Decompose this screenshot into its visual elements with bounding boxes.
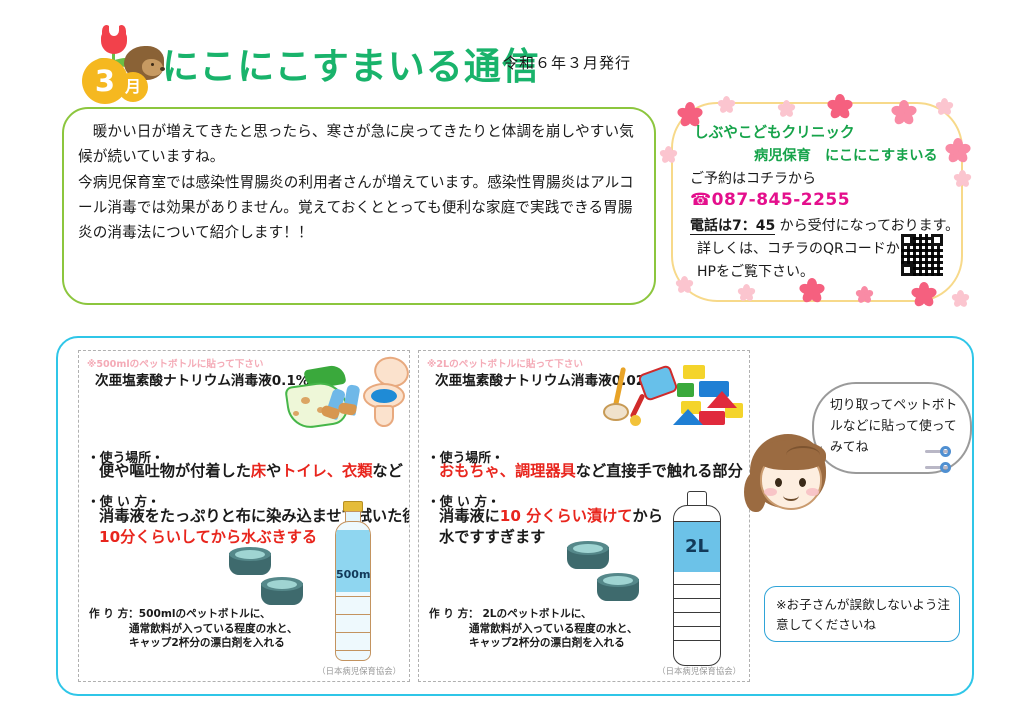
- clinic-phone-number[interactable]: ☎087-845-2255: [690, 190, 850, 210]
- bottle-500ml-icon: 500ml: [329, 501, 377, 661]
- bottle-cap-icon: [567, 541, 609, 571]
- plum-blossom-icon: [677, 276, 692, 291]
- warning-note: ※お子さんが誤飲しないよう注意してくださいね: [764, 586, 960, 642]
- plum-blossom-icon: [913, 282, 935, 304]
- place-pre: 便や嘔吐物が付着した: [99, 462, 251, 480]
- toilet-icon: [362, 357, 410, 433]
- bottle-cap-icon: [261, 577, 303, 607]
- warning-note-text: ※お子さんが誤飲しないよう注意してくださいね: [776, 595, 952, 635]
- tulip-notch: [109, 25, 119, 36]
- place-red-2: トイレ、衣類: [281, 462, 372, 480]
- bottle-label: 500ml: [336, 568, 370, 581]
- scissors-icon: [923, 448, 953, 474]
- intro-paragraphs: 暖かい日が増えてきたと思ったら、寒さが急に戻ってきたりと体調を崩しやすい気候が続…: [78, 119, 644, 245]
- page-title: にこにこすまいる通信: [162, 36, 540, 90]
- place-post: など: [372, 462, 402, 480]
- source-credit: （日本病児保育協会）: [657, 665, 741, 677]
- bottle-2l-icon: 2L: [667, 491, 727, 666]
- month-suffix: 月: [118, 72, 148, 102]
- soiled-clothes-icon: [279, 365, 365, 427]
- qr-code-icon[interactable]: [901, 234, 943, 276]
- plum-blossom-icon: [955, 170, 970, 185]
- recipe-line-3: キャップ2杯分の漂白剤を入れる: [89, 636, 298, 651]
- usage-how-body: 消毒液に10 分くらい漬けてから 水ですすぎます: [439, 506, 663, 548]
- how-post: から: [633, 507, 663, 525]
- clinic-hours-rest: から受付になっております。: [775, 218, 959, 234]
- plum-blossom-icon: [779, 100, 794, 115]
- how-line-2: 水ですすぎます: [439, 527, 663, 548]
- month-suffix-circle: 月: [118, 72, 148, 102]
- usage-place-body: 便や嘔吐物が付着した床やトイレ、衣類など: [99, 461, 403, 482]
- intro-box: 暖かい日が増えてきたと思ったら、寒さが急に戻ってきたりと体調を崩しやすい気候が続…: [62, 107, 656, 305]
- how-line-1: 消毒液に10 分くらい漬けてから: [439, 506, 663, 527]
- place-red-1: 床: [251, 462, 266, 480]
- clinic-name: しぶやこどもクリニック: [694, 121, 855, 142]
- recipe-line-2: 通常飲料が入っている程度の水と、: [89, 622, 298, 637]
- plum-blossom-icon: [857, 286, 872, 301]
- girl-cheek-right: [806, 488, 819, 496]
- card-note: ※2Lのペットボトルに貼って下さい: [427, 356, 583, 370]
- recipe-line-1: 作 り 方： 2Lのペットボトルに、: [429, 608, 592, 620]
- hedgehog-eye: [151, 63, 154, 66]
- plum-blossom-icon: [829, 94, 851, 116]
- plum-blossom-icon: [801, 278, 823, 300]
- place-red-1: おもちゃ、調理器具: [439, 462, 576, 480]
- recipe-line-1: 作 り 方：500mlのペットボトルに、: [89, 608, 271, 620]
- recipe-line-2: 通常飲料が入っている程度の水と、: [429, 622, 638, 637]
- girl-eye-left: [775, 478, 782, 487]
- cut-card-2l: ※2Lのペットボトルに貼って下さい 次亜塩素酸ナトリウム消毒液0.02% ・使う…: [418, 350, 750, 682]
- hedgehog-nose: [160, 67, 165, 71]
- how-red: 10 分くらい漬けて: [500, 507, 633, 525]
- bottle-label: 2L: [674, 536, 720, 557]
- clinic-qr-text-line2: HPをご覧下さい。: [697, 261, 814, 281]
- plum-blossom-icon: [719, 96, 734, 111]
- source-credit: （日本病児保育協会）: [317, 665, 401, 677]
- clinic-service: 病児保育 にこにこすまいる: [754, 145, 938, 165]
- intro-paragraph-1: 暖かい日が増えてきたと思ったら、寒さが急に戻ってきたりと体調を崩しやすい気候が続…: [78, 119, 644, 170]
- usage-place-body: おもちゃ、調理器具など直接手で触れる部分: [439, 461, 743, 482]
- place-post: など直接手で触れる部分: [576, 462, 743, 480]
- clinic-info-box: しぶやこどもクリニック 病児保育 にこにこすまいる ご予約はコチラから ☎087…: [661, 94, 973, 312]
- plum-blossom-icon: [947, 138, 969, 160]
- newsletter-header: 3 月 にこにこすまいる通信 令和６年３月発行: [0, 0, 1024, 100]
- girl-character-icon: [744, 434, 836, 526]
- cut-card-500ml: ※500mlのペットボトルに貼って下さい 次亜塩素酸ナトリウム消毒液0.1% ・…: [78, 350, 410, 682]
- recipe-text: 作 り 方：500mlのペットボトルに、 通常飲料が入っている程度の水と、 キャ…: [89, 607, 298, 651]
- girl-bangs: [756, 440, 826, 470]
- clinic-hours-emphasis: 電話は7：45: [690, 218, 775, 235]
- card-title: 次亜塩素酸ナトリウム消毒液0.1%: [95, 369, 309, 389]
- place-mid: や: [266, 462, 281, 480]
- clinic-qr-text-line1: 詳しくは、コチラのQRコードから: [697, 238, 914, 258]
- bottle-cap-icon: [597, 573, 639, 603]
- intro-paragraph-2: 今病児保育室では感染性胃腸炎の利用者さんが増えています。感染性胃腸炎はアルコール…: [78, 170, 644, 246]
- recipe-text: 作 り 方： 2Lのペットボトルに、 通常飲料が入っている程度の水と、 キャップ…: [429, 607, 638, 651]
- plum-blossom-icon: [739, 284, 754, 299]
- month-badge: 3 月: [74, 24, 166, 102]
- clinic-hours: 電話は7：45 から受付になっております。: [690, 215, 959, 235]
- plum-blossom-icon: [893, 100, 915, 122]
- recipe-line-3: キャップ2杯分の漂白剤を入れる: [429, 636, 638, 651]
- plum-blossom-icon: [661, 146, 676, 161]
- card-note: ※500mlのペットボトルに貼って下さい: [87, 356, 263, 370]
- issue-date: 令和６年３月発行: [503, 52, 631, 73]
- plum-blossom-icon: [937, 98, 952, 113]
- clinic-reservation-text: ご予約はコチラから: [690, 168, 816, 188]
- girl-cheek-left: [764, 488, 777, 496]
- toys-and-utensils-icon: [599, 359, 749, 439]
- girl-eye-right: [799, 478, 806, 487]
- how-pre: 消毒液に: [439, 507, 500, 525]
- plum-blossom-icon: [953, 290, 968, 305]
- girl-mouth: [783, 490, 799, 501]
- bottle-cap-icon: [229, 547, 271, 577]
